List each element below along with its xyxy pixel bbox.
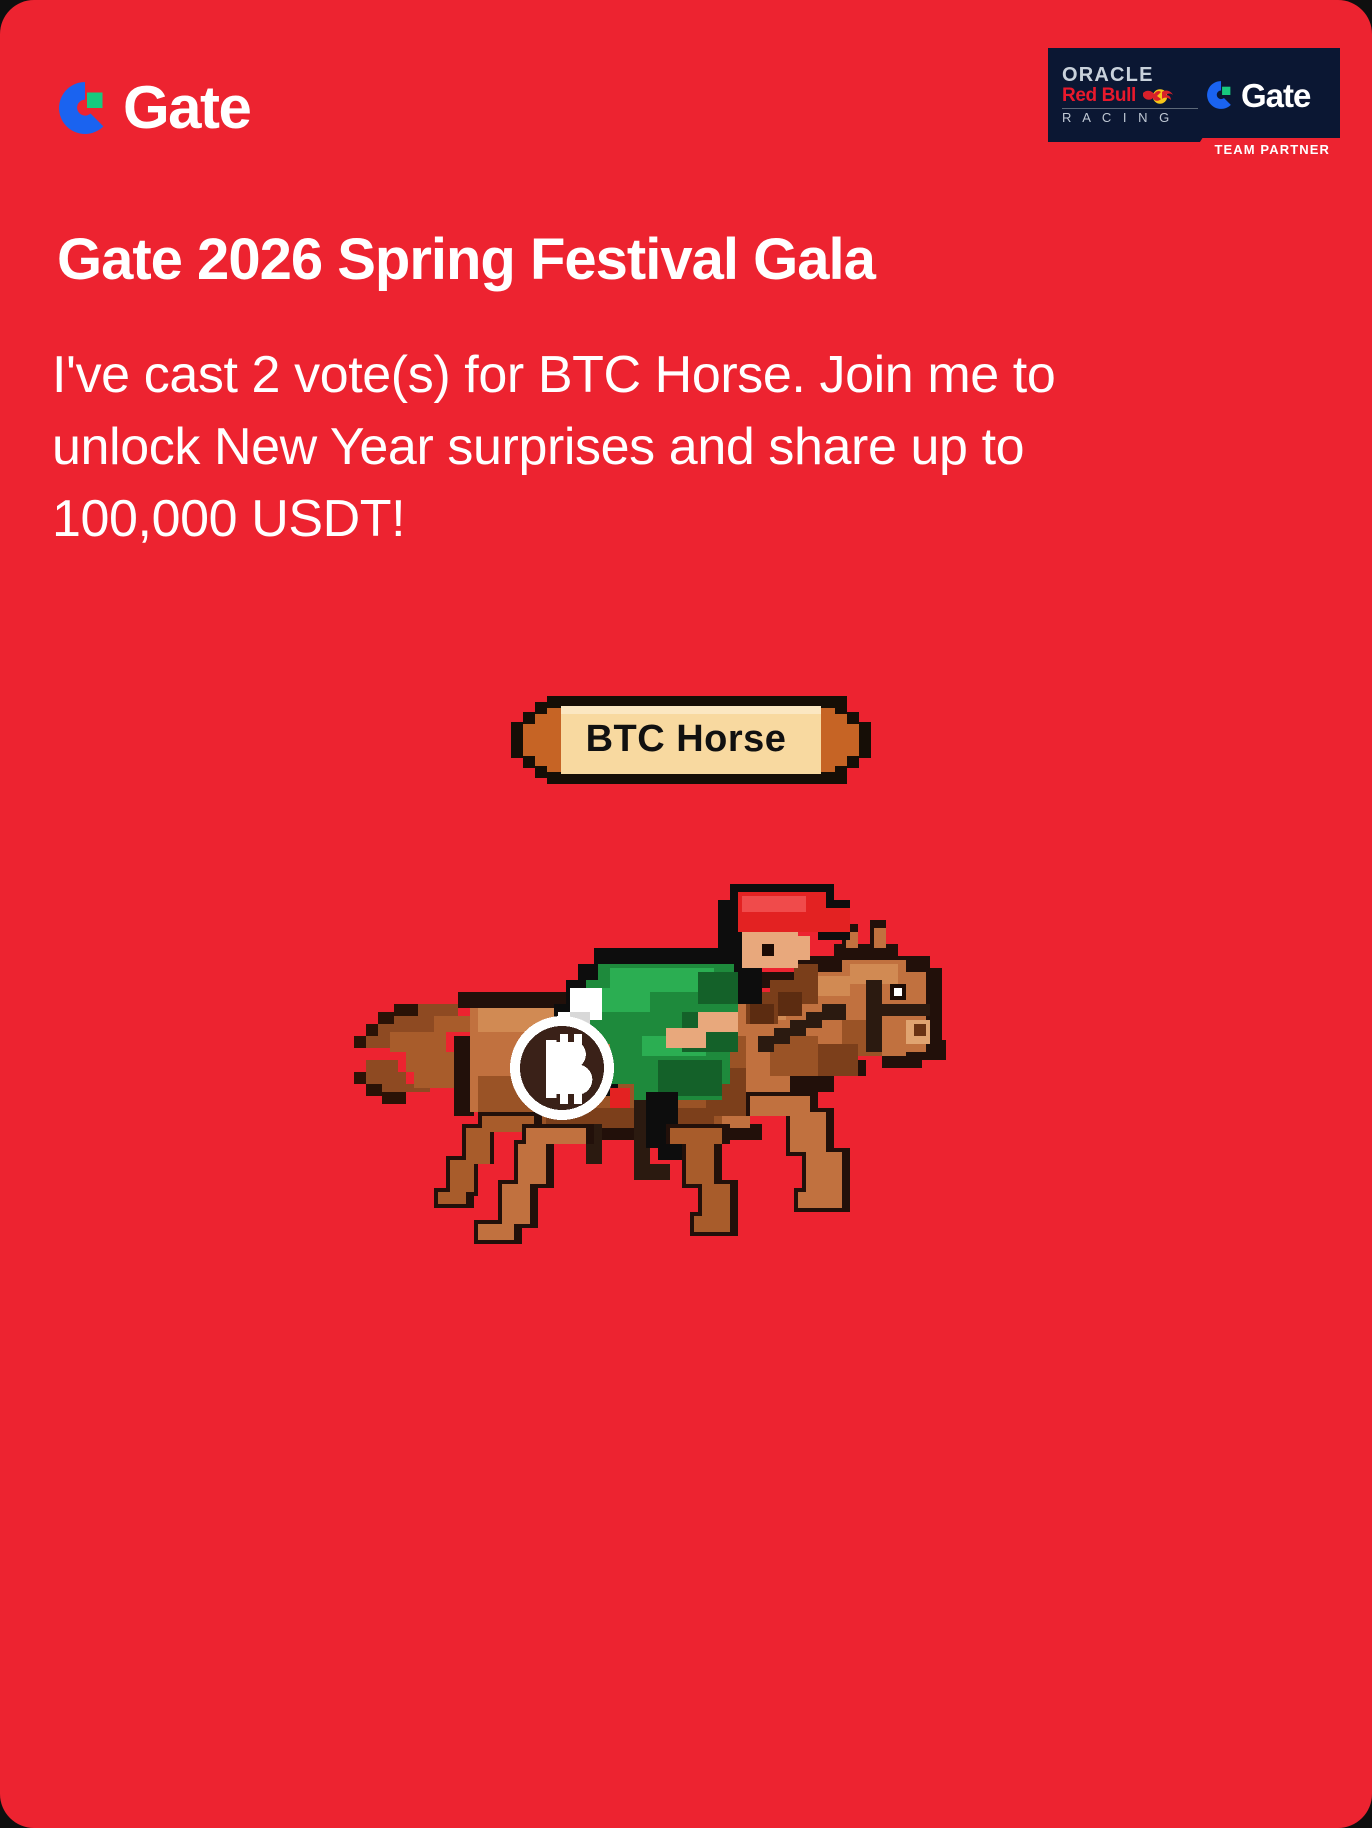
horse-name-ribbon-container: BTC Horse xyxy=(0,690,1372,790)
horse-illustration-container xyxy=(0,860,1372,1280)
red-bull-racing-logo: ORACLE Red Bull R A C I N G xyxy=(1048,65,1198,125)
horse-name-label: BTC Horse xyxy=(481,690,891,790)
share-card: Gate ORACLE Red Bull xyxy=(0,0,1372,1828)
pixel-race-horse-icon xyxy=(346,860,1026,1280)
racing-label: R A C I N G xyxy=(1062,111,1198,125)
oracle-label: ORACLE xyxy=(1062,65,1198,86)
red-bull-label: Red Bull xyxy=(1062,86,1136,106)
card-header: Gate ORACLE Red Bull xyxy=(0,0,1372,200)
gate-logo-icon xyxy=(1206,80,1236,110)
badge-gate-logo: Gate xyxy=(1206,79,1310,112)
partner-badge-panel: ORACLE Red Bull R A C I N G xyxy=(1048,48,1340,142)
gate-brand-logo[interactable]: Gate xyxy=(57,78,250,138)
horse-name-ribbon[interactable]: BTC Horse xyxy=(481,690,891,790)
page-title: Gate 2026 Spring Festival Gala xyxy=(57,228,1207,293)
bitcoin-icon xyxy=(510,1016,614,1120)
red-bull-icon xyxy=(1140,87,1176,105)
share-message: I've cast 2 vote(s) for BTC Horse. Join … xyxy=(52,340,1122,555)
badge-gate-wordmark: Gate xyxy=(1241,79,1310,112)
team-partner-label: TEAM PARTNER xyxy=(1188,138,1340,160)
partner-badge: ORACLE Red Bull R A C I N G xyxy=(1048,48,1340,160)
badge-divider xyxy=(1062,108,1198,109)
gate-logo-icon xyxy=(57,80,113,136)
gate-wordmark: Gate xyxy=(123,78,250,138)
